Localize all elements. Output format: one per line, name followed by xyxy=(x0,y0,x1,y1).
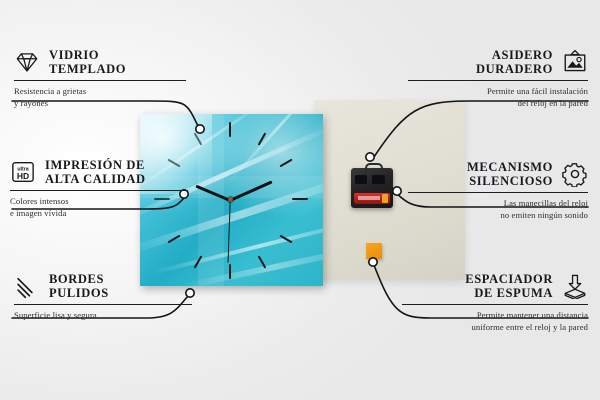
feature-divider xyxy=(408,192,588,193)
desc-line-2: uniforme entre el reloj y la pared xyxy=(402,322,588,333)
title-line-2: DE ESPUMA xyxy=(465,286,553,300)
desc-line-2: no emiten ningún sonido xyxy=(408,210,588,221)
polished-edges-icon xyxy=(14,273,40,299)
feature-title: VIDRIO TEMPLADO xyxy=(49,48,126,76)
desc-line-1: Superficie lisa y segura xyxy=(14,310,192,321)
feature-espaciador-de-espuma[interactable]: ESPACIADOR DE ESPUMA Permite mantener un… xyxy=(402,272,588,333)
feature-description: Resistencia a grietas y rayones xyxy=(14,86,186,109)
feature-title: ESPACIADOR DE ESPUMA xyxy=(465,272,553,300)
feature-description: Permite mantener una distancia uniforme … xyxy=(402,310,588,333)
feature-divider xyxy=(408,80,588,81)
feature-impresion-alta-calidad[interactable]: ultra HD IMPRESIÓN DE ALTA CALIDAD Color… xyxy=(10,158,188,219)
desc-line-2: y rayones xyxy=(14,98,186,109)
feature-divider xyxy=(10,190,188,191)
feature-vidrio-templado[interactable]: VIDRIO TEMPLADO Resistencia a grietas y … xyxy=(14,48,186,109)
hanging-picture-frame-icon xyxy=(562,49,588,75)
feature-title: MECANISMO SILENCIOSO xyxy=(467,160,553,188)
feature-header: ESPACIADOR DE ESPUMA xyxy=(402,272,588,300)
connector-dot-espaciador xyxy=(369,258,377,266)
feature-header: ultra HD IMPRESIÓN DE ALTA CALIDAD xyxy=(10,158,188,186)
feature-header: VIDRIO TEMPLADO xyxy=(14,48,186,76)
feature-description: Colores intensos e imagen vívida xyxy=(10,196,188,219)
feature-title: ASIDERO DURADERO xyxy=(476,48,553,76)
desc-line-1: Permite mantener una distancia xyxy=(402,310,588,321)
connector-dot-asidero xyxy=(366,153,374,161)
desc-line-1: Permite una fácil instalación xyxy=(408,86,588,97)
desc-line-1: Colores intensos xyxy=(10,196,188,207)
title-line-1: VIDRIO xyxy=(49,48,126,62)
feature-header: BORDES PULIDOS xyxy=(14,272,192,300)
title-line-2: PULIDOS xyxy=(49,286,109,300)
feature-bordes-pulidos[interactable]: BORDES PULIDOS Superficie lisa y segura xyxy=(14,272,192,322)
infographic-canvas: VIDRIO TEMPLADO Resistencia a grietas y … xyxy=(0,0,600,400)
feature-header: MECANISMO SILENCIOSO xyxy=(408,160,588,188)
gear-icon xyxy=(562,161,588,187)
desc-line-1: Las manecillas del reloj xyxy=(408,198,588,209)
title-line-2: ALTA CALIDAD xyxy=(45,172,146,186)
desc-line-2: e imagen vívida xyxy=(10,208,188,219)
title-line-1: ESPACIADOR xyxy=(465,272,553,286)
connector-dot-vidrio xyxy=(196,125,204,133)
feature-divider xyxy=(402,304,588,305)
svg-text:HD: HD xyxy=(17,171,29,181)
diamond-icon xyxy=(14,49,40,75)
feature-divider xyxy=(14,304,192,305)
feature-description: Las manecillas del reloj no emiten ningú… xyxy=(408,198,588,221)
title-line-2: DURADERO xyxy=(476,62,553,76)
feature-header: ASIDERO DURADERO xyxy=(408,48,588,76)
feature-description: Permite una fácil instalación del reloj … xyxy=(408,86,588,109)
connector-dot-mecanismo xyxy=(393,187,401,195)
title-line-1: MECANISMO xyxy=(467,160,553,174)
feature-asidero-duradero[interactable]: ASIDERO DURADERO Permite una fácil insta… xyxy=(408,48,588,109)
title-line-2: SILENCIOSO xyxy=(467,174,553,188)
ultra-hd-badge-icon: ultra HD xyxy=(10,159,36,185)
connector-asidero xyxy=(372,101,588,160)
feature-title: IMPRESIÓN DE ALTA CALIDAD xyxy=(45,158,146,186)
feature-divider xyxy=(14,80,186,81)
title-line-2: TEMPLADO xyxy=(49,62,126,76)
foam-spacer-arrow-icon xyxy=(562,273,588,299)
feature-title: BORDES PULIDOS xyxy=(49,272,109,300)
title-line-1: ASIDERO xyxy=(476,48,553,62)
desc-line-2: del reloj en la pared xyxy=(408,98,588,109)
desc-line-1: Resistencia a grietas xyxy=(14,86,186,97)
feature-description: Superficie lisa y segura xyxy=(14,310,192,321)
title-line-1: BORDES xyxy=(49,272,109,286)
feature-mecanismo-silencioso[interactable]: MECANISMO SILENCIOSO Las manecillas del … xyxy=(408,160,588,221)
title-line-1: IMPRESIÓN DE xyxy=(45,158,146,172)
